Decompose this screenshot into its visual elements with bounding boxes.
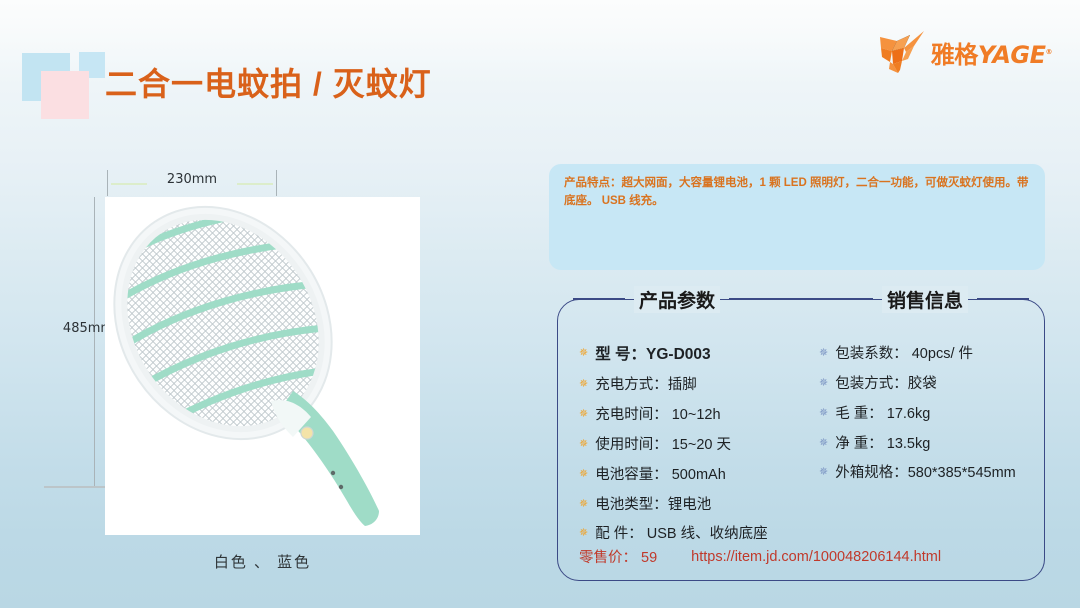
spec-row: ✵ 毛 重： 17.6kg (819, 405, 1045, 424)
spec-header-rule-mid-right (799, 298, 873, 299)
dimension-width: 230mm (107, 170, 277, 196)
spec-row-text: 外箱规格：580*385*545mm (835, 464, 1045, 483)
brand-logo: 雅格YAGE® (880, 31, 1052, 73)
spec-title-sales: 销售信息 (882, 286, 968, 313)
spec-title-parameters: 产品参数 (634, 286, 720, 313)
spec-row-text: 包装方式：胶袋 (835, 375, 1045, 394)
product-features-text: 产品特点：超大网面，大容量锂电池，1 颗 LED 照明灯，二合一功能，可做灭蚊灯… (564, 175, 1032, 211)
dimension-vertical-line (94, 197, 95, 487)
bird-icon (880, 31, 924, 73)
spec-row-text: 使用时间： 15~20 天 (595, 436, 805, 455)
spec-panel: 产品参数 销售信息 ✵ 型 号：YG-D003 ✵ 充电方式：插脚 ✵ (557, 299, 1045, 581)
registered-mark: ® (1046, 48, 1053, 56)
spec-row-text: 净 重： 13.5kg (835, 435, 1045, 454)
flower-bullet-icon: ✵ (579, 376, 588, 394)
spec-row: ✵ 使用时间： 15~20 天 (579, 436, 805, 455)
spec-row: ✵ 充电方式：插脚 (579, 376, 805, 395)
product-image-panel (105, 197, 420, 535)
flower-bullet-icon: ✵ (819, 345, 828, 363)
flower-bullet-icon: ✵ (579, 436, 588, 454)
spec-row: ✵ 包装方式：胶袋 (819, 375, 1045, 394)
spec-row: ✵ 配 件： USB 线、收纳底座 (579, 525, 805, 544)
dimension-width-label: 230mm (107, 172, 277, 187)
brand-name-cn: 雅格 (931, 42, 978, 69)
spec-header-rule-right (977, 298, 1029, 299)
spec-header-right: 销售信息 (799, 286, 1029, 312)
spec-column-parameters: ✵ 型 号：YG-D003 ✵ 充电方式：插脚 ✵ 充电时间： 10~12h ✵… (557, 345, 805, 555)
spec-row-text: 电池容量： 500mAh (595, 466, 805, 485)
spec-row-text: 型 号：YG-D003 (595, 345, 805, 365)
flower-bullet-icon: ✵ (579, 525, 588, 543)
spec-row: ✵ 型 号：YG-D003 (579, 345, 805, 365)
flower-bullet-icon: ✵ (579, 345, 588, 363)
dimension-height: 485mm (66, 197, 108, 487)
brand-logo-text: 雅格YAGE® (931, 35, 1052, 70)
flower-bullet-icon: ✵ (579, 466, 588, 484)
spec-row-text: 包装系数： 40pcs/ 件 (835, 345, 1045, 364)
product-features-box: 产品特点：超大网面，大容量锂电池，1 颗 LED 照明灯，二合一功能，可做灭蚊灯… (549, 164, 1045, 270)
retail-price-label: 零售价： 59 (579, 546, 657, 567)
spec-footer: 零售价： 59 https://item.jd.com/100048206144… (557, 546, 1045, 567)
spec-row-text: 电池类型：锂电池 (595, 496, 805, 515)
spec-row-text: 充电方式：插脚 (595, 376, 805, 395)
page-title: 二合一电蚊拍 / 灭蚊灯 (105, 59, 432, 105)
spec-row: ✵ 包装系数： 40pcs/ 件 (819, 345, 1045, 364)
spec-row-text: 充电时间： 10~12h (595, 406, 805, 425)
spec-columns: ✵ 型 号：YG-D003 ✵ 充电方式：插脚 ✵ 充电时间： 10~12h ✵… (557, 345, 1045, 555)
flower-bullet-icon: ✵ (819, 405, 828, 423)
flower-bullet-icon: ✵ (819, 464, 828, 482)
spec-row: ✵ 电池类型：锂电池 (579, 496, 805, 515)
brand-name-en: YAGE (978, 41, 1046, 69)
flower-bullet-icon: ✵ (819, 375, 828, 393)
spec-header-rule-mid-left (729, 298, 803, 299)
spec-header-left: 产品参数 (573, 286, 803, 312)
spec-row: ✵ 外箱规格：580*385*545mm (819, 464, 1045, 483)
mosquito-racket-image (111, 205, 414, 527)
power-button (301, 427, 313, 439)
spec-header-rule-left (573, 298, 625, 299)
spec-column-sales: ✵ 包装系数： 40pcs/ 件 ✵ 包装方式：胶袋 ✵ 毛 重： 17.6kg… (805, 345, 1045, 555)
spec-row-text: 配 件： USB 线、收纳底座 (595, 525, 805, 544)
flower-bullet-icon: ✵ (579, 406, 588, 424)
spec-row-text: 毛 重： 17.6kg (835, 405, 1045, 424)
spec-row: ✵ 净 重： 13.5kg (819, 435, 1045, 454)
flower-bullet-icon: ✵ (819, 435, 828, 453)
slide-canvas: 二合一电蚊拍 / 灭蚊灯 雅格YAGE® 230mm 485mm (0, 0, 1080, 608)
decor-square-pink (41, 71, 89, 119)
product-url-link[interactable]: https://item.jd.com/100048206144.html (691, 549, 941, 565)
color-caption: 白色 、 蓝色 (105, 551, 420, 572)
flower-bullet-icon: ✵ (579, 496, 588, 514)
spec-row: ✵ 充电时间： 10~12h (579, 406, 805, 425)
spec-row: ✵ 电池容量： 500mAh (579, 466, 805, 485)
